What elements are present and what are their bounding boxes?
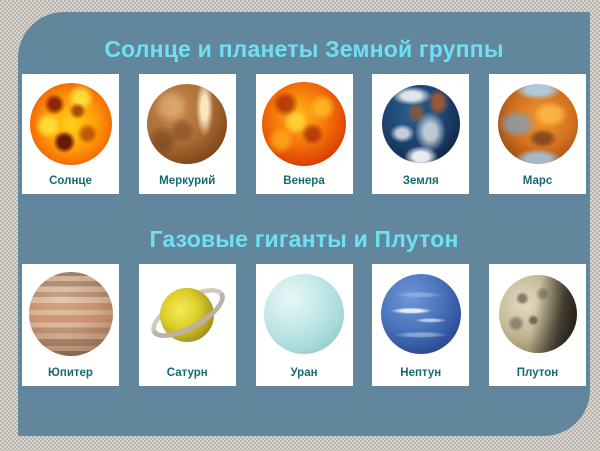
pluto-image: [496, 270, 580, 358]
planet-label-jupiter: Юпитер: [22, 367, 119, 379]
sun-orb-icon: [30, 83, 112, 165]
mercury-image: [145, 80, 229, 168]
planet-label-neptune: Нептун: [372, 367, 469, 379]
planet-label-pluto: Плутон: [489, 367, 586, 379]
planet-label-uranus: Уран: [256, 367, 353, 379]
planet-row-terrestrial: Солнце Меркурий Венера Земля: [22, 74, 586, 194]
planet-card-saturn[interactable]: Сатурн: [139, 264, 236, 386]
planet-card-jupiter[interactable]: Юпитер: [22, 264, 119, 386]
planet-label-venus: Венера: [256, 175, 353, 187]
section-title-terrestrial: Солнце и планеты Земной группы: [18, 36, 590, 63]
uranus-image: [262, 270, 346, 358]
planet-card-pluto[interactable]: Плутон: [489, 264, 586, 386]
neptune-image: [379, 270, 463, 358]
jupiter-orb-icon: [29, 272, 113, 356]
saturn-orb-icon: [145, 270, 229, 358]
sun-image: [29, 80, 113, 168]
planet-card-earth[interactable]: Земля: [372, 74, 469, 194]
planet-row-gas-giants: Юпитер Сатурн Уран: [22, 264, 586, 386]
planet-card-mars[interactable]: Марс: [489, 74, 586, 194]
planet-label-mercury: Меркурий: [139, 175, 236, 187]
jupiter-image: [29, 270, 113, 358]
pluto-orb-icon: [499, 275, 577, 353]
venus-orb-icon: [262, 82, 346, 166]
mercury-orb-icon: [147, 84, 227, 164]
venus-image: [262, 80, 346, 168]
planet-card-mercury[interactable]: Меркурий: [139, 74, 236, 194]
planet-label-mars: Марс: [489, 175, 586, 187]
neptune-orb-icon: [381, 274, 461, 354]
uranus-orb-icon: [264, 274, 344, 354]
planet-card-neptune[interactable]: Нептун: [372, 264, 469, 386]
slide-canvas: Солнце и планеты Земной группы Солнце Ме…: [0, 0, 600, 451]
planet-label-saturn: Сатурн: [139, 367, 236, 379]
earth-image: [379, 80, 463, 168]
planet-card-sun[interactable]: Солнце: [22, 74, 119, 194]
mars-image: [496, 80, 580, 168]
planet-card-venus[interactable]: Венера: [256, 74, 353, 194]
content-panel: Солнце и планеты Земной группы Солнце Ме…: [18, 12, 590, 436]
section-title-gas-giants: Газовые гиганты и Плутон: [18, 226, 590, 253]
mars-orb-icon: [498, 84, 578, 164]
planet-label-sun: Солнце: [22, 175, 119, 187]
earth-orb-icon: [382, 85, 460, 163]
planet-card-uranus[interactable]: Уран: [256, 264, 353, 386]
saturn-image: [145, 270, 229, 358]
planet-label-earth: Земля: [372, 175, 469, 187]
